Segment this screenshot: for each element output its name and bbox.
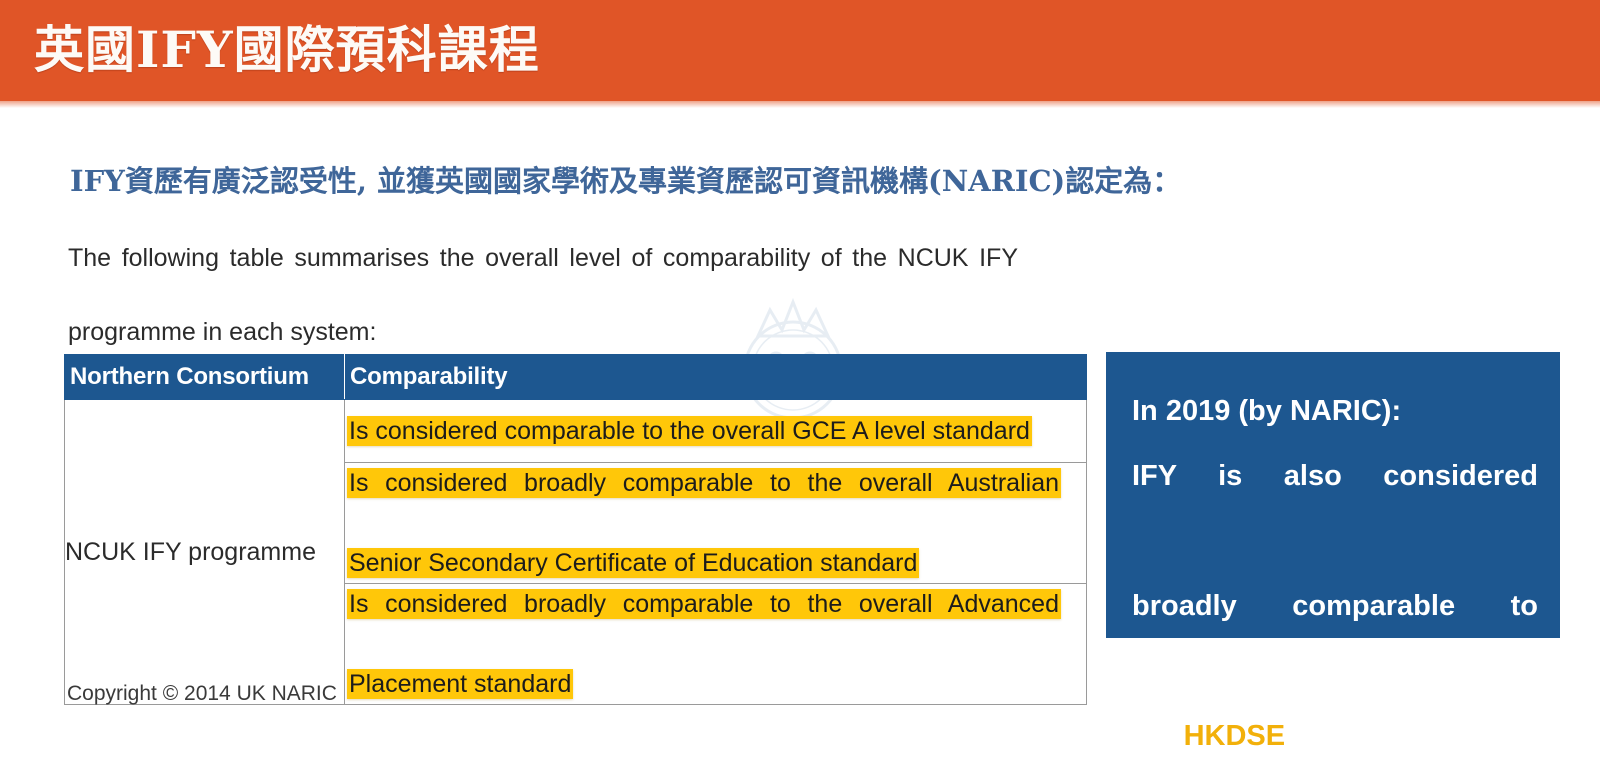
highlight-text-3a: Is considered broadly comparable to the … (347, 589, 1061, 619)
intro-paragraph: The following table summarises the overa… (68, 240, 1018, 351)
cell-consortium-programme: NCUK IFY programme (65, 400, 345, 705)
cell-comparability-1: Is considered comparable to the overall … (345, 400, 1087, 463)
callout-line-1: In 2019 (by NARIC): (1132, 379, 1538, 444)
callout-line-4-pre: the (1132, 720, 1184, 752)
callout-line-4-post: standard. (1285, 720, 1424, 752)
callout-line-2: IFY is also considered (1132, 444, 1538, 574)
table-header-row: Northern Consortium Comparability (65, 355, 1087, 400)
intro-line-1: The following table summarises the overa… (68, 240, 1018, 314)
copyright-notice: Copyright © 2014 UK NARIC (67, 682, 337, 706)
naric-callout-box: In 2019 (by NARIC): IFY is also consider… (1106, 352, 1560, 638)
column-header-comparability: Comparability (345, 355, 1087, 400)
highlight-text-2b: Senior Secondary Certificate of Educatio… (347, 548, 919, 578)
highlight-text-1: Is considered comparable to the overall … (347, 416, 1032, 446)
highlight-text-3b: Placement standard (347, 669, 573, 699)
callout-hkdse-accent: HKDSE (1184, 720, 1286, 752)
highlight-text-2a: Is considered broadly comparable to the … (347, 468, 1061, 498)
column-header-northern-consortium: Northern Consortium (65, 355, 345, 400)
callout-line-3: broadly comparable to (1132, 574, 1538, 704)
cell-comparability-3: Is considered broadly comparable to the … (345, 584, 1087, 705)
intro-line-2: programme in each system: (68, 314, 1018, 351)
section-subheading: IFY資歷有廣泛認受性, 並獲英國國家學術及專業資歷認可資訊機構(NARIC)認… (70, 158, 1181, 200)
cell-comparability-2: Is considered broadly comparable to the … (345, 463, 1087, 584)
callout-line-4: the HKDSE standard. (1132, 704, 1538, 769)
comparability-table: Northern Consortium Comparability NCUK I… (64, 354, 1087, 705)
page-title: 英國IFY國際預科課程 (34, 8, 540, 92)
header-banner: 英國IFY國際預科課程 (0, 0, 1600, 101)
table-row: NCUK IFY programme Is considered compara… (65, 400, 1087, 463)
